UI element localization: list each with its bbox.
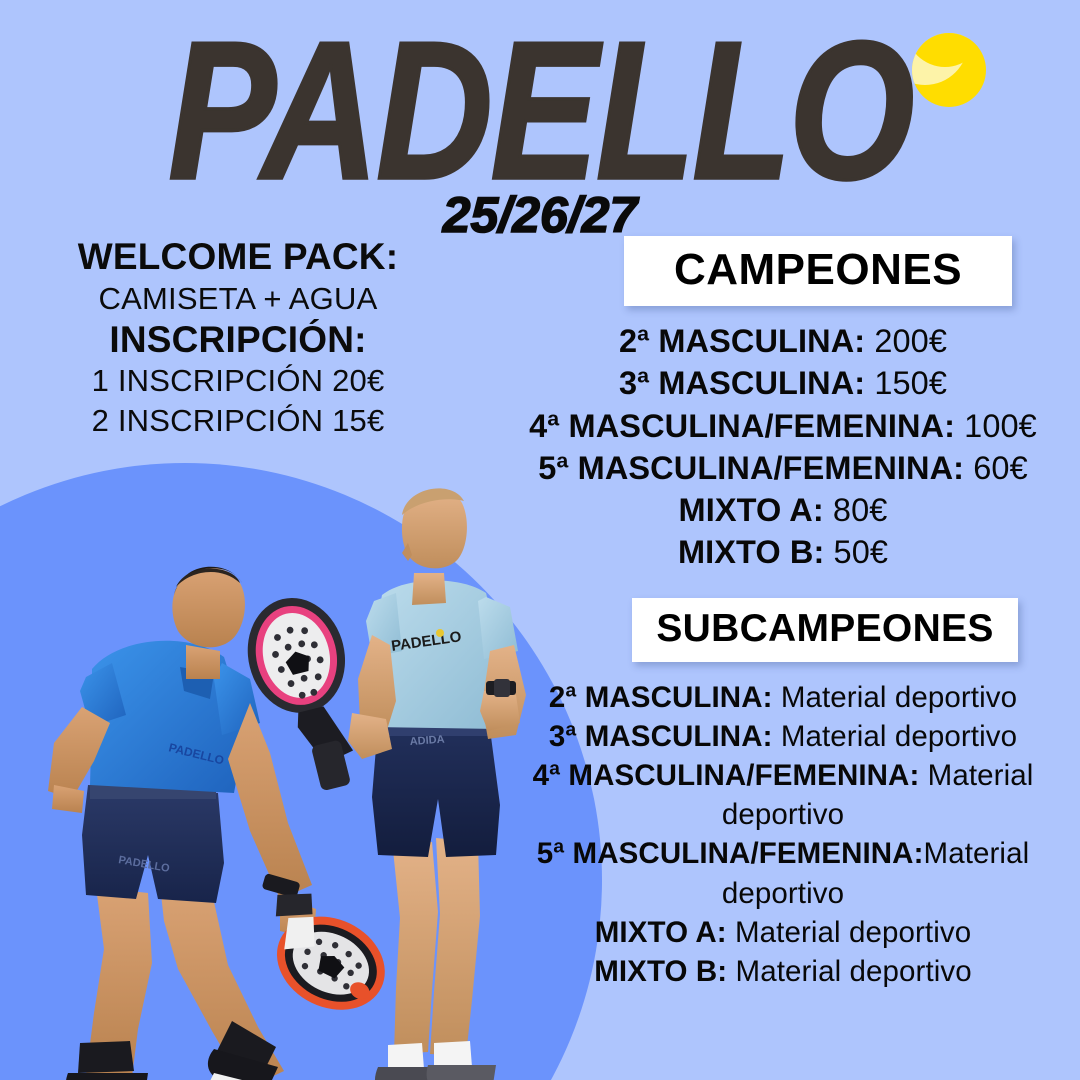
- campeones-list: 2ª MASCULINA: 200€3ª MASCULINA: 150€4ª M…: [510, 320, 1056, 574]
- inscription-title: INSCRIPCIÓN:: [28, 319, 448, 362]
- prize-row: 3ª MASCULINA: 150€: [510, 362, 1056, 404]
- prize-category-label: MIXTO A:: [595, 916, 727, 949]
- prize-value: 50€: [824, 534, 888, 570]
- prize-category-label: 4ª MASCULINA/FEMENINA:: [533, 759, 920, 792]
- prize-category-label: 3ª MASCULINA:: [619, 365, 865, 401]
- prize-value: 150€: [865, 365, 947, 401]
- prize-row: 3ª MASCULINA: Material deportivo: [510, 717, 1056, 756]
- prize-row: 5ª MASCULINA/FEMENINA:Material deportivo: [510, 834, 1056, 912]
- page-title: PADELLO: [164, 14, 916, 210]
- event-dates: 25/26/27: [0, 186, 1080, 244]
- campeones-banner: CAMPEONES: [624, 236, 1012, 306]
- subcampeones-banner-label: SUBCAMPEONES: [632, 607, 1018, 651]
- svg-text:ADIDA: ADIDA: [409, 734, 445, 748]
- inscription-price-1: 1 INSCRIPCIÓN 20€: [28, 361, 448, 401]
- campeones-banner-label: CAMPEONES: [624, 245, 1012, 295]
- prize-row: MIXTO B: Material deportivo: [510, 952, 1056, 991]
- prize-row: 2ª MASCULINA: 200€: [510, 320, 1056, 362]
- prize-category-label: MIXTO B:: [678, 534, 824, 570]
- poster-canvas: ADIDA PADELLO: [0, 0, 1080, 1080]
- prize-category-label: 4ª MASCULINA/FEMENINA:: [529, 408, 955, 444]
- prize-value: Material deportivo: [773, 720, 1018, 753]
- player-back: ADIDA PADELLO: [236, 488, 526, 1080]
- prize-row: 4ª MASCULINA/FEMENINA: 100€: [510, 405, 1056, 447]
- prize-value: 60€: [964, 450, 1028, 486]
- prize-row: 5ª MASCULINA/FEMENINA: 60€: [510, 447, 1056, 489]
- left-info-block: WELCOME PACK: CAMISETA + AGUA INSCRIPCIÓ…: [28, 236, 448, 441]
- prize-category-label: 3ª MASCULINA:: [549, 720, 773, 753]
- prize-value: Material deportivo: [727, 955, 972, 988]
- prize-value: 80€: [824, 492, 888, 528]
- prize-category-label: 5ª MASCULINA/FEMENINA:: [537, 837, 924, 870]
- prize-value: Material deportivo: [727, 916, 972, 949]
- inscription-price-2: 2 INSCRIPCIÓN 15€: [28, 401, 448, 441]
- prize-row: 4ª MASCULINA/FEMENINA: Material deportiv…: [510, 756, 1056, 834]
- prizes-column: CAMPEONES 2ª MASCULINA: 200€3ª MASCULINA…: [510, 236, 1056, 991]
- prize-category-label: 5ª MASCULINA/FEMENINA:: [538, 450, 964, 486]
- prize-value: 100€: [955, 408, 1037, 444]
- prize-row: MIXTO B: 50€: [510, 531, 1056, 573]
- subcampeones-banner: SUBCAMPEONES: [632, 598, 1018, 662]
- tennis-ball-icon: [912, 33, 986, 107]
- prize-category-label: MIXTO A:: [679, 492, 824, 528]
- prize-value: 200€: [865, 323, 947, 359]
- prize-value: Material deportivo: [773, 681, 1018, 714]
- subcampeones-list: 2ª MASCULINA: Material deportivo3ª MASCU…: [510, 678, 1056, 992]
- welcome-pack-detail: CAMISETA + AGUA: [28, 279, 448, 319]
- prize-category-label: 2ª MASCULINA:: [549, 681, 773, 714]
- prize-row: 2ª MASCULINA: Material deportivo: [510, 678, 1056, 717]
- prize-row: MIXTO A: Material deportivo: [510, 913, 1056, 952]
- prize-category-label: 2ª MASCULINA:: [619, 323, 865, 359]
- player-front: PADELLO PADELLO: [48, 567, 405, 1080]
- prize-row: MIXTO A: 80€: [510, 489, 1056, 531]
- prize-category-label: MIXTO B:: [594, 955, 727, 988]
